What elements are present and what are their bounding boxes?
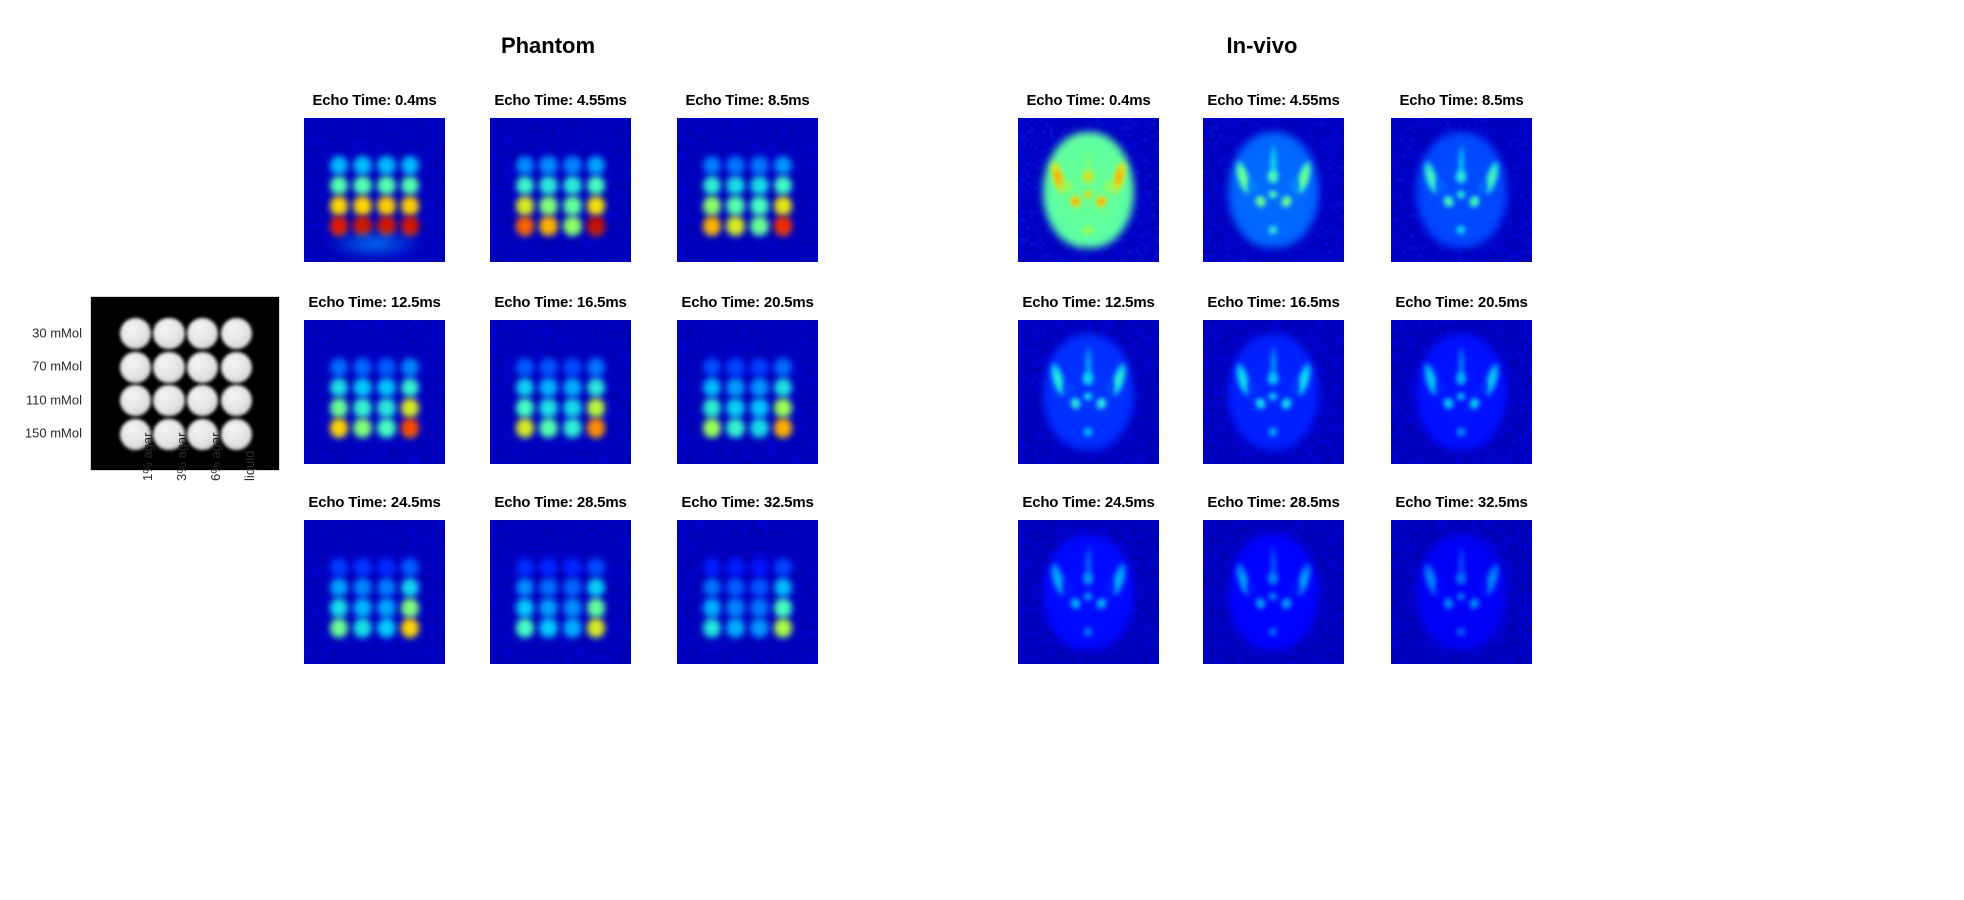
phantom-vial — [353, 156, 372, 176]
reference-row-label: 150 mMol — [0, 426, 82, 441]
phantom-vial — [563, 398, 582, 418]
phantom-image — [304, 320, 445, 464]
phantom-vial — [377, 418, 396, 438]
background-noise — [677, 520, 818, 664]
scalp-rim — [1040, 129, 1137, 251]
phantom-image — [677, 520, 818, 664]
phantom-vial — [377, 358, 396, 378]
invivo-image — [1018, 118, 1159, 262]
phantom-vial — [539, 598, 558, 618]
phantom-vial — [774, 196, 793, 216]
phantom-vial — [377, 598, 396, 618]
phantom-vial — [377, 618, 396, 638]
brain-hyperintensity — [1267, 169, 1279, 184]
panel-title: Echo Time: 16.5ms — [494, 294, 626, 311]
phantom-vial — [750, 216, 769, 236]
invivo-image — [1391, 118, 1532, 262]
phantom-vial — [353, 196, 372, 216]
reference-vial — [153, 318, 184, 349]
phantom-vial — [726, 196, 745, 216]
phantom-vial — [401, 398, 420, 418]
brain-hyperintensity — [1456, 392, 1466, 401]
phantom-vial — [330, 196, 349, 216]
panel-title: Echo Time: 8.5ms — [1399, 92, 1523, 109]
phantom-vial — [750, 358, 769, 378]
phantom-vial — [587, 196, 606, 216]
invivo-image — [1391, 320, 1532, 464]
phantom-vial — [330, 418, 349, 438]
phantom-vial — [563, 598, 582, 618]
phantom-vial — [539, 398, 558, 418]
phantom-vial — [750, 618, 769, 638]
phantom-vial — [377, 398, 396, 418]
panel-title: Echo Time: 12.5ms — [308, 294, 440, 311]
phantom-base-glow — [325, 233, 424, 259]
brain-slice — [1203, 520, 1344, 664]
phantom-image — [490, 118, 631, 262]
phantom-vial — [774, 618, 793, 638]
phantom-vial — [377, 558, 396, 578]
brain-hyperintensity — [1083, 392, 1093, 401]
phantom-vial — [539, 176, 558, 196]
phantom-vial — [750, 398, 769, 418]
phantom-vial — [587, 418, 606, 438]
phantom-vial — [563, 358, 582, 378]
invivo-image — [1203, 320, 1344, 464]
brain-slice — [1018, 118, 1159, 262]
reference-vial — [187, 352, 218, 383]
phantom-vial — [726, 358, 745, 378]
phantom-vial — [353, 558, 372, 578]
background-noise — [304, 520, 445, 664]
phantom-image — [490, 320, 631, 464]
phantom-vial — [353, 618, 372, 638]
phantom-vial — [587, 598, 606, 618]
phantom-vial — [401, 216, 420, 236]
reference-row-label: 30 mMol — [0, 325, 82, 340]
phantom-vial — [703, 598, 722, 618]
reference-vial — [187, 385, 218, 416]
phantom-vial — [563, 378, 582, 398]
phantom-vial — [726, 398, 745, 418]
brain-hyperintensity — [1455, 371, 1467, 386]
phantom-vial — [539, 196, 558, 216]
reference-vial — [153, 352, 184, 383]
phantom-vial — [703, 216, 722, 236]
panel-title: Echo Time: 12.5ms — [1022, 294, 1154, 311]
phantom-vial — [353, 398, 372, 418]
panel-title: Echo Time: 24.5ms — [1022, 494, 1154, 511]
phantom-vial — [563, 558, 582, 578]
brain-slice — [1391, 320, 1532, 464]
panel-title: Echo Time: 0.4ms — [1026, 92, 1150, 109]
phantom-vial — [330, 398, 349, 418]
brain-hyperintensity — [1455, 571, 1467, 586]
phantom-vial — [703, 618, 722, 638]
phantom-vial — [750, 176, 769, 196]
phantom-vial — [774, 598, 793, 618]
panel-title: Echo Time: 16.5ms — [1207, 294, 1339, 311]
brain-hyperintensity — [1082, 371, 1094, 386]
brain-slice — [1018, 520, 1159, 664]
phantom-vial — [401, 618, 420, 638]
phantom-vial — [750, 578, 769, 598]
phantom-vial — [587, 618, 606, 638]
phantom-image — [490, 520, 631, 664]
phantom-vial — [726, 598, 745, 618]
brain-hyperintensity — [1268, 592, 1278, 601]
phantom-vial — [377, 378, 396, 398]
phantom-vial — [539, 618, 558, 638]
phantom-vial — [377, 196, 396, 216]
phantom-vial — [516, 216, 535, 236]
phantom-vial — [330, 216, 349, 236]
phantom-vial — [563, 618, 582, 638]
reference-vial — [120, 385, 151, 416]
invivo-image — [1203, 118, 1344, 262]
phantom-vial — [539, 418, 558, 438]
background-noise — [677, 320, 818, 464]
phantom-vial — [750, 418, 769, 438]
panel-title: Echo Time: 20.5ms — [1395, 294, 1527, 311]
phantom-vial — [539, 358, 558, 378]
panel-title: Echo Time: 28.5ms — [494, 494, 626, 511]
brain-hyperintensity — [1268, 392, 1278, 401]
phantom-vial — [563, 216, 582, 236]
phantom-vial — [703, 418, 722, 438]
phantom-vial — [726, 378, 745, 398]
phantom-vial — [516, 618, 535, 638]
background-noise — [490, 320, 631, 464]
brain-slice — [1018, 320, 1159, 464]
phantom-vial — [516, 418, 535, 438]
phantom-vial — [353, 578, 372, 598]
phantom-vial — [726, 156, 745, 176]
phantom-vial — [377, 578, 396, 598]
brain-slice — [1203, 118, 1344, 262]
panel-title: Echo Time: 24.5ms — [308, 494, 440, 511]
phantom-vial — [539, 378, 558, 398]
reference-col-label: 6% agar — [208, 433, 223, 481]
phantom-vial — [401, 196, 420, 216]
phantom-vial — [750, 196, 769, 216]
brain-hyperintensity — [1082, 571, 1094, 586]
section-title-phantom: Phantom — [501, 33, 595, 59]
phantom-vial — [353, 418, 372, 438]
phantom-vial — [750, 156, 769, 176]
section-title-invivo: In-vivo — [1227, 33, 1298, 59]
brain-hyperintensity — [1456, 190, 1466, 199]
phantom-vial — [750, 378, 769, 398]
phantom-vial — [516, 398, 535, 418]
invivo-image — [1391, 520, 1532, 664]
brain-slice — [1391, 118, 1532, 262]
phantom-vial — [726, 558, 745, 578]
phantom-vial — [353, 176, 372, 196]
background-noise — [304, 320, 445, 464]
brain-slice — [1203, 320, 1344, 464]
invivo-image — [1018, 320, 1159, 464]
phantom-vial — [703, 196, 722, 216]
phantom-vial — [774, 398, 793, 418]
panel-title: Echo Time: 0.4ms — [312, 92, 436, 109]
panel-title: Echo Time: 4.55ms — [494, 92, 626, 109]
phantom-vial — [563, 418, 582, 438]
background-noise — [490, 118, 631, 262]
phantom-image — [677, 118, 818, 262]
reference-row-label: 70 mMol — [0, 359, 82, 374]
brain-hyperintensity — [1267, 371, 1279, 386]
phantom-vial — [330, 598, 349, 618]
phantom-vial — [726, 176, 745, 196]
phantom-vial — [563, 196, 582, 216]
phantom-vial — [353, 358, 372, 378]
phantom-image — [677, 320, 818, 464]
reference-vial — [187, 318, 218, 349]
phantom-vial — [726, 578, 745, 598]
phantom-vial — [774, 216, 793, 236]
phantom-image — [304, 118, 445, 262]
reference-row-label: 110 mMol — [0, 392, 82, 407]
reference-col-label: liquid — [242, 451, 257, 481]
reference-vial — [221, 352, 252, 383]
panel-title: Echo Time: 8.5ms — [685, 92, 809, 109]
brain-hyperintensity — [1083, 592, 1093, 601]
phantom-vial — [563, 176, 582, 196]
phantom-vial — [750, 558, 769, 578]
phantom-vial — [726, 618, 745, 638]
reference-vial — [221, 385, 252, 416]
reference-vial — [120, 352, 151, 383]
phantom-vial — [563, 578, 582, 598]
brain-hyperintensity — [1456, 592, 1466, 601]
phantom-vial — [539, 578, 558, 598]
phantom-vial — [377, 156, 396, 176]
phantom-vial — [401, 598, 420, 618]
reference-col-label: 1% agar — [140, 433, 155, 481]
phantom-vial — [726, 216, 745, 236]
reference-vial — [153, 385, 184, 416]
background-noise — [490, 520, 631, 664]
reference-col-label: 3% agar — [174, 433, 189, 481]
invivo-image — [1018, 520, 1159, 664]
background-noise — [677, 118, 818, 262]
brain-hyperintensity — [1455, 169, 1467, 184]
phantom-vial — [516, 598, 535, 618]
phantom-image — [304, 520, 445, 664]
phantom-vial — [726, 418, 745, 438]
phantom-vial — [330, 618, 349, 638]
panel-title: Echo Time: 20.5ms — [681, 294, 813, 311]
phantom-vial — [401, 418, 420, 438]
phantom-vial — [587, 216, 606, 236]
reference-vial — [221, 318, 252, 349]
invivo-image — [1203, 520, 1344, 664]
phantom-vial — [539, 216, 558, 236]
panel-title: Echo Time: 32.5ms — [681, 494, 813, 511]
panel-title: Echo Time: 28.5ms — [1207, 494, 1339, 511]
phantom-vial — [774, 418, 793, 438]
phantom-vial — [539, 558, 558, 578]
panel-title: Echo Time: 32.5ms — [1395, 494, 1527, 511]
reference-vial — [120, 318, 151, 349]
phantom-vial — [353, 378, 372, 398]
phantom-vial — [516, 196, 535, 216]
phantom-vial — [587, 398, 606, 418]
phantom-vial — [563, 156, 582, 176]
phantom-vial — [377, 176, 396, 196]
brain-hyperintensity — [1267, 571, 1279, 586]
phantom-vial — [539, 156, 558, 176]
phantom-vial — [750, 598, 769, 618]
reference-vial — [221, 419, 252, 450]
phantom-vial — [353, 598, 372, 618]
panel-title: Echo Time: 4.55ms — [1207, 92, 1339, 109]
brain-slice — [1391, 520, 1532, 664]
phantom-vial — [703, 398, 722, 418]
brain-hyperintensity — [1268, 190, 1278, 199]
